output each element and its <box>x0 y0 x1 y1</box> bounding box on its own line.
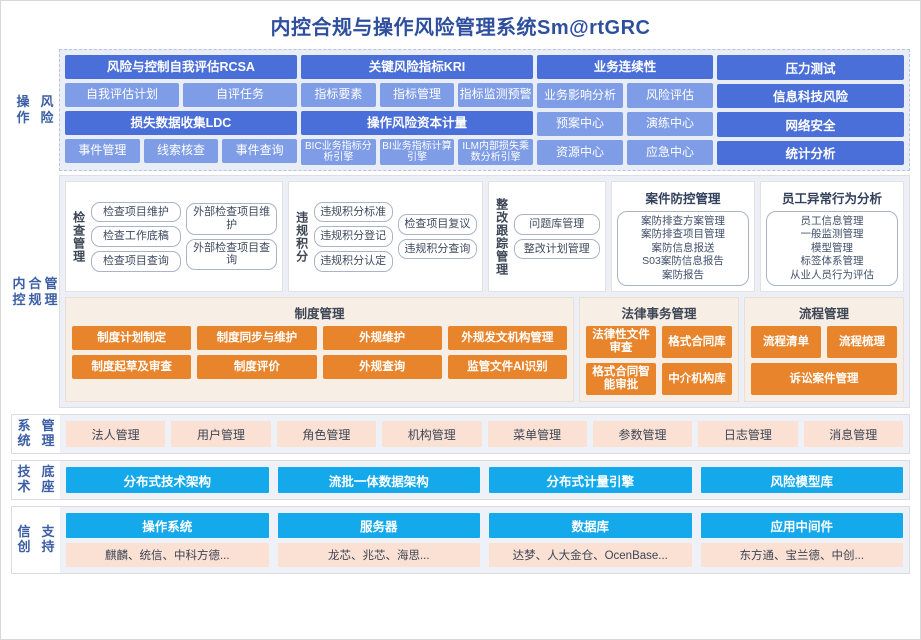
xinchuang-body: 操作系统 麒麟、统信、中科方德... 服务器 龙芯、兆芯、海思... 数据库 达… <box>60 507 909 573</box>
sm-col: 外规维护 外规查询 <box>323 326 442 379</box>
menu-item[interactable]: 参数管理 <box>593 421 692 447</box>
menu-item[interactable]: 服务器 <box>278 513 481 538</box>
op-item[interactable]: 信息科技风险 <box>717 84 904 109</box>
menu-item[interactable]: 违规积分认定 <box>314 251 393 272</box>
menu-item[interactable]: 检查项目复议 <box>398 214 477 235</box>
employee-behavior-title: 员工异常行为分析 <box>766 188 898 207</box>
op-item[interactable]: ILM内部损失乘数分析引擎 <box>458 139 533 165</box>
op-col-kri: 关键风险指标KRI 指标要素 指标管理 指标监测预警 操作风险资本计量 BIC业… <box>301 55 533 165</box>
op-item[interactable]: 演练中心 <box>627 112 713 137</box>
menu-item[interactable]: 外部检查项目维护 <box>186 203 277 234</box>
internal-control-band: 内控合规管理 检查管理 检查项目维护 检查工作底稿 检查项目查询 外部检查项目维… <box>11 175 910 408</box>
op-item[interactable]: 应急中心 <box>627 140 713 165</box>
tech-base-body: 分布式技术架构 流批一体数据架构 分布式计量引擎 风险模型库 <box>60 461 909 499</box>
system-admin-body: 法人管理 用户管理 角色管理 机构管理 菜单管理 参数管理 日志管理 消息管理 <box>60 415 909 453</box>
menu-item[interactable]: 分布式技术架构 <box>66 467 269 493</box>
check-management-card: 检查管理 检查项目维护 检查工作底稿 检查项目查询 外部检查项目维护 外部检查项… <box>65 181 283 292</box>
violation-left-pills: 违规积分标准 违规积分登记 违规积分认定 <box>314 202 393 272</box>
menu-item[interactable]: 制度评价 <box>197 355 316 379</box>
menu-item[interactable]: 诉讼案件管理 <box>751 363 897 395</box>
menu-item[interactable]: 中介机构库 <box>662 363 732 395</box>
menu-item[interactable]: 角色管理 <box>277 421 376 447</box>
rcsa-header[interactable]: 风险与控制自我评估RCSA <box>65 55 297 79</box>
app-root: 内控合规与操作风险管理系统Sm@rtGRC 操作风险 风险与控制自我评估RCSA… <box>0 0 921 640</box>
list-item[interactable]: 案防排查项目管理 <box>622 228 744 241</box>
op-item[interactable]: 自评任务 <box>183 83 297 107</box>
internal-control-label: 内控合规管理 <box>11 175 59 408</box>
check-management-label: 检查管理 <box>71 211 86 263</box>
op-item[interactable]: 预案中心 <box>537 112 623 137</box>
operational-risk-body: 风险与控制自我评估RCSA 自我评估计划 自评任务 损失数据收集LDC 事件管理… <box>59 49 910 171</box>
sm-col: 制度计划制定 制度起草及审查 <box>72 326 191 379</box>
case-prevention-title: 案件防控管理 <box>617 188 749 207</box>
op-col-stress: 压力测试 信息科技风险 网络安全 统计分析 <box>717 55 904 165</box>
list-item[interactable]: 案防排查方案管理 <box>622 215 744 228</box>
menu-item[interactable]: 菜单管理 <box>488 421 587 447</box>
menu-item[interactable]: 机构管理 <box>382 421 481 447</box>
case-prevention-list[interactable]: 案防排查方案管理 案防排查项目管理 案防信息报送 S03案防信息报告 案防报告 <box>617 211 749 286</box>
violation-points-label: 违规积分 <box>294 211 309 263</box>
rectification-pills: 问题库管理 整改计划管理 <box>514 214 600 259</box>
op-item[interactable]: 指标要素 <box>301 83 376 107</box>
sm-col: 制度同步与维护 制度评价 <box>197 326 316 379</box>
menu-item[interactable]: 分布式计量引擎 <box>489 467 692 493</box>
menu-item[interactable]: 制度计划制定 <box>72 326 191 350</box>
system-management-grid: 制度计划制定 制度起草及审查 制度同步与维护 制度评价 外规维护 外规查询 <box>72 326 567 379</box>
op-item[interactable]: 压力测试 <box>717 55 904 80</box>
menu-item[interactable]: 用户管理 <box>171 421 270 447</box>
xinchuang-label: 信创支持 <box>12 507 60 573</box>
xinchuang-column: 数据库 达梦、人大金仓、OcenBase... <box>489 513 692 567</box>
op-item[interactable]: BIC业务指标分析引擎 <box>301 139 376 165</box>
list-item[interactable]: 案防报告 <box>622 269 744 282</box>
op-item[interactable]: BI业务指标计算引擎 <box>380 139 455 165</box>
menu-item[interactable]: 制度同步与维护 <box>197 326 316 350</box>
employee-behavior-card: 员工异常行为分析 员工信息管理 一般监测管理 模型管理 标签体系管理 从业人员行… <box>760 181 904 292</box>
continuity-row-1: 业务影响分析 风险评估 <box>537 83 713 108</box>
menu-item[interactable]: 法人管理 <box>66 421 165 447</box>
xinchuang-band: 信创支持 操作系统 麒麟、统信、中科方德... 服务器 龙芯、兆芯、海思... … <box>11 506 910 574</box>
op-item[interactable]: 风险评估 <box>627 83 713 108</box>
menu-item[interactable]: 操作系统 <box>66 513 269 538</box>
menu-item[interactable]: 检查工作底稿 <box>91 226 182 247</box>
menu-item[interactable]: 格式合同库 <box>662 326 732 358</box>
menu-item[interactable]: 检查项目维护 <box>91 202 182 223</box>
vendor-list: 东方通、宝兰德、中创... <box>701 543 904 567</box>
menu-item[interactable]: 监管文件AI识别 <box>448 355 567 379</box>
employee-behavior-list[interactable]: 员工信息管理 一般监测管理 模型管理 标签体系管理 从业人员行为评估 <box>766 211 898 286</box>
ldc-subrow: 事件管理 线索核查 事件查询 <box>65 139 297 163</box>
check-left-pills: 检查项目维护 检查工作底稿 检查项目查询 <box>91 202 182 272</box>
op-col-rcsa: 风险与控制自我评估RCSA 自我评估计划 自评任务 损失数据收集LDC 事件管理… <box>65 55 297 165</box>
list-item[interactable]: 案防信息报送 <box>622 242 744 255</box>
internal-control-bottom-row: 制度管理 制度计划制定 制度起草及审查 制度同步与维护 制度评价 外规维护 外规 <box>65 297 904 402</box>
op-item[interactable]: 指标管理 <box>380 83 455 107</box>
list-item[interactable]: 标签体系管理 <box>771 255 893 268</box>
list-item[interactable]: 员工信息管理 <box>771 215 893 228</box>
menu-item[interactable]: 问题库管理 <box>514 214 600 235</box>
rcsa-subrow: 自我评估计划 自评任务 <box>65 83 297 107</box>
menu-item[interactable]: 外规查询 <box>323 355 442 379</box>
continuity-header[interactable]: 业务连续性 <box>537 55 713 79</box>
vendor-list: 达梦、人大金仓、OcenBase... <box>489 543 692 567</box>
menu-item[interactable]: 应用中间件 <box>701 513 904 538</box>
ldc-header[interactable]: 损失数据收集LDC <box>65 111 297 135</box>
tech-base-label: 技术底座 <box>12 461 60 499</box>
legal-affairs-box: 法律事务管理 法律性文件审查 格式合同智能审批 格式合同库 中介机构库 <box>579 297 739 402</box>
op-item[interactable]: 自我评估计划 <box>65 83 179 107</box>
rectification-label: 整改跟踪管理 <box>494 198 509 276</box>
op-item[interactable]: 资源中心 <box>537 140 623 165</box>
tech-base-band: 技术底座 分布式技术架构 流批一体数据架构 分布式计量引擎 风险模型库 <box>11 460 910 500</box>
kri-subrow: 指标要素 指标管理 指标监测预警 <box>301 83 533 107</box>
process-management-title: 流程管理 <box>751 303 897 322</box>
menu-item[interactable]: 整改计划管理 <box>514 239 600 260</box>
menu-item[interactable]: 外规维护 <box>323 326 442 350</box>
continuity-row-3: 资源中心 应急中心 <box>537 140 713 165</box>
menu-item[interactable]: 格式合同智能审批 <box>586 363 656 395</box>
op-item[interactable]: 事件查询 <box>222 139 297 163</box>
violation-right-pills: 检查项目复议 违规积分查询 <box>398 214 477 259</box>
menu-item[interactable]: 违规积分登记 <box>314 226 393 247</box>
vendor-list: 麒麟、统信、中科方德... <box>66 543 269 567</box>
check-right-pills: 外部检查项目维护 外部检查项目查询 <box>186 203 277 270</box>
op-item[interactable]: 指标监测预警 <box>458 83 533 107</box>
la-col: 法律性文件审查 格式合同智能审批 <box>586 326 656 395</box>
kri-header[interactable]: 关键风险指标KRI <box>301 55 533 79</box>
system-management-title: 制度管理 <box>72 303 567 322</box>
operational-risk-band: 操作风险 风险与控制自我评估RCSA 自我评估计划 自评任务 损失数据收集LDC… <box>11 49 910 171</box>
op-col-continuity: 业务连续性 业务影响分析 风险评估 预案中心 演练中心 资源中心 应急中心 <box>537 55 713 165</box>
la-col: 格式合同库 中介机构库 <box>662 326 732 395</box>
menu-item[interactable]: 违规积分查询 <box>398 239 477 260</box>
menu-item[interactable]: 消息管理 <box>804 421 903 447</box>
menu-item[interactable]: 检查项目查询 <box>91 251 182 272</box>
rectification-card: 整改跟踪管理 问题库管理 整改计划管理 <box>488 181 606 292</box>
process-management-box: 流程管理 流程清单 流程梳理 诉讼案件管理 <box>744 297 904 402</box>
list-item[interactable]: S03案防信息报告 <box>622 255 744 268</box>
vendor-list: 龙芯、兆芯、海思... <box>278 543 481 567</box>
op-item[interactable]: 业务影响分析 <box>537 83 623 108</box>
list-item[interactable]: 从业人员行为评估 <box>771 269 893 282</box>
process-bottom-row: 诉讼案件管理 <box>751 363 897 395</box>
menu-item[interactable]: 流批一体数据架构 <box>278 467 481 493</box>
legal-affairs-grid: 法律性文件审查 格式合同智能审批 格式合同库 中介机构库 <box>586 326 732 395</box>
page-header: 内控合规与操作风险管理系统Sm@rtGRC <box>1 1 920 49</box>
menu-item[interactable]: 违规积分标准 <box>314 202 393 223</box>
process-top-row: 流程清单 流程梳理 <box>751 326 897 358</box>
internal-control-body: 检查管理 检查项目维护 检查工作底稿 检查项目查询 外部检查项目维护 外部检查项… <box>59 175 910 408</box>
op-item[interactable]: 事件管理 <box>65 139 140 163</box>
xinchuang-column: 操作系统 麒麟、统信、中科方德... <box>66 513 269 567</box>
list-item[interactable]: 模型管理 <box>771 242 893 255</box>
menu-item[interactable]: 流程清单 <box>751 326 821 358</box>
menu-item[interactable]: 法律性文件审查 <box>586 326 656 358</box>
system-admin-band: 系统管理 法人管理 用户管理 角色管理 机构管理 菜单管理 参数管理 日志管理 … <box>11 414 910 454</box>
continuity-row-2: 预案中心 演练中心 <box>537 112 713 137</box>
legal-affairs-title: 法律事务管理 <box>586 303 732 322</box>
internal-control-top-row: 检查管理 检查项目维护 检查工作底稿 检查项目查询 外部检查项目维护 外部检查项… <box>65 181 904 292</box>
menu-item[interactable]: 制度起草及审查 <box>72 355 191 379</box>
menu-item[interactable]: 日志管理 <box>698 421 797 447</box>
xinchuang-column: 服务器 龙芯、兆芯、海思... <box>278 513 481 567</box>
op-item[interactable]: 网络安全 <box>717 112 904 137</box>
op-item[interactable]: 线索核查 <box>144 139 219 163</box>
menu-item[interactable]: 流程梳理 <box>827 326 897 358</box>
list-item[interactable]: 一般监测管理 <box>771 228 893 241</box>
menu-item[interactable]: 数据库 <box>489 513 692 538</box>
op-item[interactable]: 统计分析 <box>717 141 904 166</box>
capital-header[interactable]: 操作风险资本计量 <box>301 111 533 135</box>
violation-points-card: 违规积分 违规积分标准 违规积分登记 违规积分认定 检查项目复议 违规积分查询 <box>288 181 483 292</box>
case-prevention-card: 案件防控管理 案防排查方案管理 案防排查项目管理 案防信息报送 S03案防信息报… <box>611 181 755 292</box>
capital-subrow: BIC业务指标分析引擎 BI业务指标计算引擎 ILM内部损失乘数分析引擎 <box>301 139 533 165</box>
menu-item[interactable]: 风险模型库 <box>701 467 904 493</box>
menu-item[interactable]: 外规发文机构管理 <box>448 326 567 350</box>
menu-item[interactable]: 外部检查项目查询 <box>186 239 277 270</box>
operational-risk-label: 操作风险 <box>11 49 59 171</box>
page-title: 内控合规与操作风险管理系统Sm@rtGRC <box>270 11 650 40</box>
system-admin-label: 系统管理 <box>12 415 60 453</box>
system-management-box: 制度管理 制度计划制定 制度起草及审查 制度同步与维护 制度评价 外规维护 外规 <box>65 297 574 402</box>
sm-col: 外规发文机构管理 监管文件AI识别 <box>448 326 567 379</box>
xinchuang-column: 应用中间件 东方通、宝兰德、中创... <box>701 513 904 567</box>
